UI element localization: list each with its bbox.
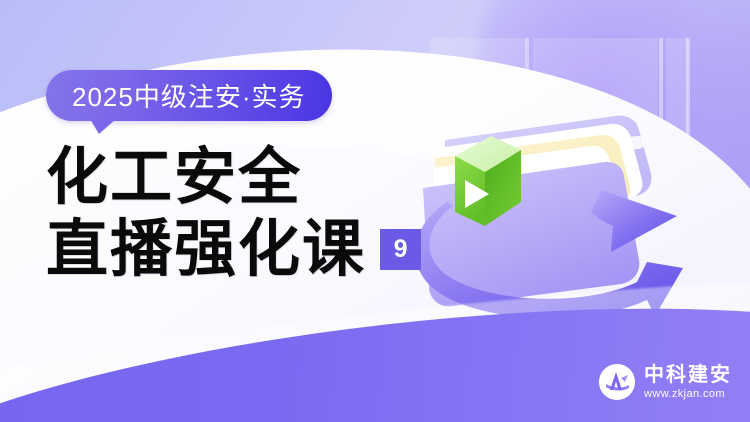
brand-logo-mark-icon [599,364,635,400]
page-title-line-1: 化工安全 [46,143,466,211]
course-category-badge: 2025中级注安·实务 [46,70,332,121]
brand-logo-text: 中科建安 www.zkjan.com [644,364,732,400]
course-banner: 2025中级注安·实务 化工安全 直播强化课 9 中科建安 [0,0,750,422]
page-title-line-2: 直播强化课 9 [46,215,466,283]
course-category-label: 2025中级注安·实务 [72,77,306,114]
badge-tail-icon [90,119,116,134]
title-wrap: 化工安全 直播强化课 9 [46,143,466,283]
text-block: 2025中级注安·实务 化工安全 直播强化课 9 [46,70,466,283]
brand-url: www.zkjan.com [644,389,732,400]
title-line-2-text: 直播强化课 [46,215,366,283]
episode-badge: 9 [380,229,421,270]
brand-logo: 中科建安 www.zkjan.com [599,364,732,400]
title-line-1-text: 化工安全 [46,140,302,213]
brand-name: 中科建安 [644,364,732,384]
